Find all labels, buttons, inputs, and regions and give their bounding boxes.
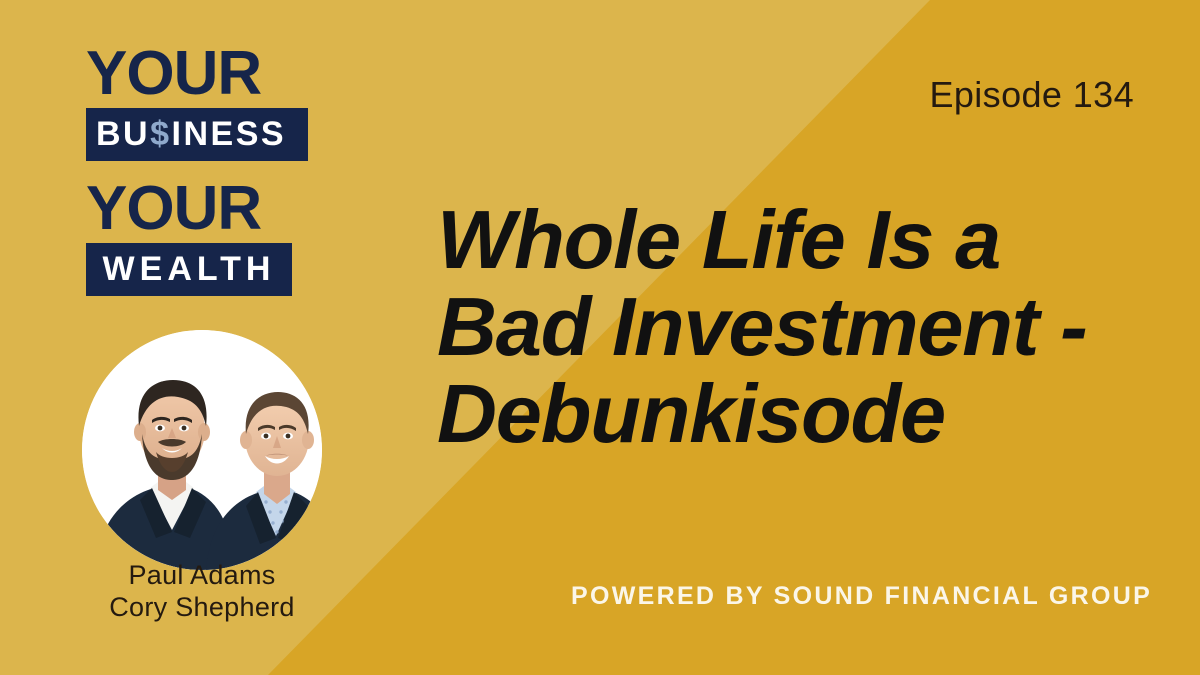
host-name-2: Cory Shepherd	[0, 592, 404, 624]
episode-title: Whole Life Is a Bad Investment - Debunki…	[437, 196, 1127, 457]
logo-word-your-1: YOUR	[86, 44, 326, 105]
episode-title-line-1: Whole Life Is a	[437, 196, 1127, 283]
logo-bar-wealth: WEALTH	[86, 243, 292, 296]
episode-title-line-3: Debunkisode	[437, 370, 1127, 457]
host-names: Paul Adams Cory Shepherd	[0, 560, 404, 624]
powered-by-footer: POWERED BY SOUND FINANCIAL GROUP	[571, 582, 1152, 611]
brand-logo: YOUR BU$INESS YOUR WEALTH	[86, 44, 326, 296]
host-photo-circle	[82, 330, 322, 570]
host-name-1: Paul Adams	[0, 560, 404, 592]
host-photo-illustration	[82, 330, 322, 570]
logo-word-your-2: YOUR	[86, 179, 326, 240]
episode-label: Episode 134	[929, 74, 1134, 116]
host-photo	[82, 344, 322, 556]
episode-title-line-2: Bad Investment -	[437, 283, 1127, 370]
podcast-episode-cover: YOUR BU$INESS YOUR WEALTH	[0, 0, 1200, 675]
logo-business-suffix: INESS	[172, 115, 287, 153]
dollar-sign-icon: $	[150, 115, 171, 153]
logo-business-prefix: BU	[96, 115, 150, 153]
logo-bar-business: BU$INESS	[86, 108, 308, 161]
